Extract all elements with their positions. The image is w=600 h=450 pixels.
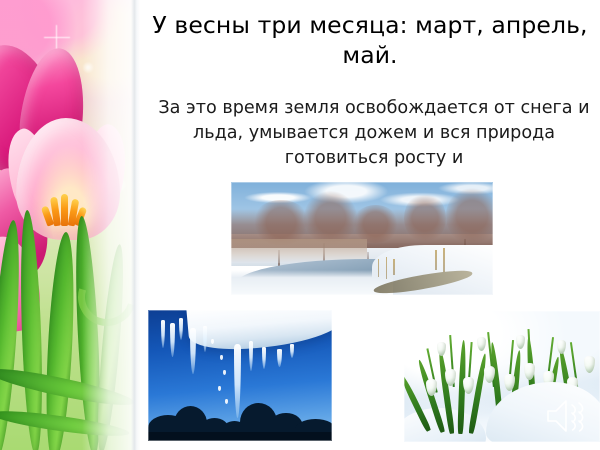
speaker-icon[interactable] xyxy=(546,396,594,436)
icicles-ground xyxy=(148,432,332,441)
slide-body-text: За это время земля освобождается от снег… xyxy=(150,96,598,171)
winter-river-landscape-photo xyxy=(231,182,493,295)
slide-title: У весны три месяца: март, апрель, май. xyxy=(150,10,590,70)
landscape-snow-foreground xyxy=(231,270,393,295)
tulip-photo-band xyxy=(0,0,140,450)
melting-icicles-photo xyxy=(148,310,332,441)
band-edge-shadow xyxy=(131,0,140,450)
presentation-slide: У весны три месяца: март, апрель, май. З… xyxy=(0,0,600,450)
